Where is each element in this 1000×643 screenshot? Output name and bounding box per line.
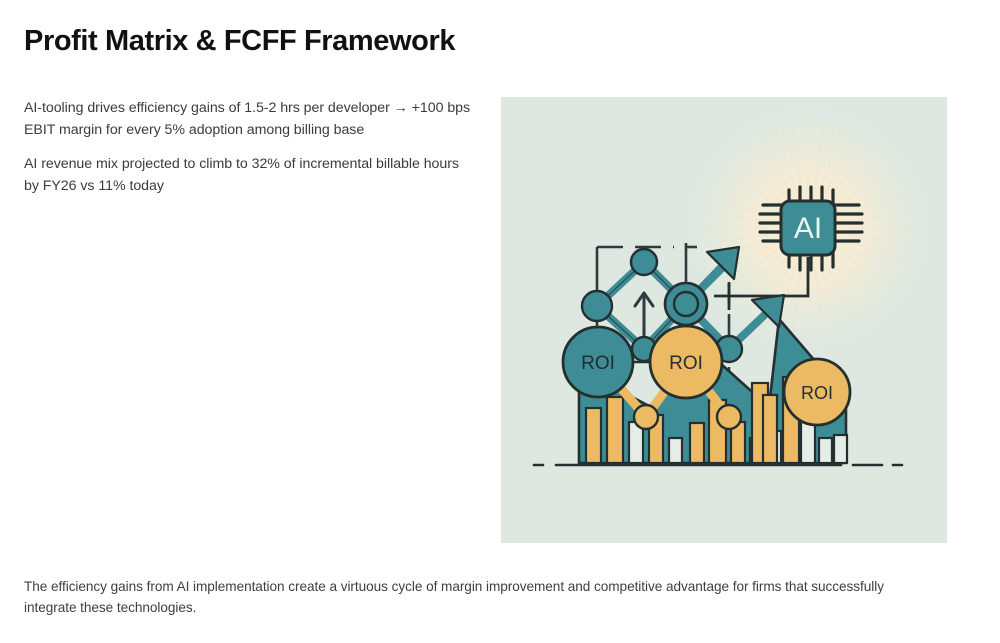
bar	[669, 438, 682, 463]
bullet-item-2: AI revenue mix projected to climb to 32%…	[24, 153, 476, 197]
bar	[586, 408, 601, 463]
teal-node	[631, 249, 657, 275]
illustration-panel: ROI ROI ROI	[501, 97, 947, 543]
bar	[834, 435, 847, 463]
ai-roi-growth-illustration: ROI ROI ROI	[501, 97, 947, 543]
roi-badge-2: ROI	[650, 326, 722, 398]
roi-badge-1-label: ROI	[581, 353, 615, 374]
bar	[819, 438, 832, 463]
roi-badge-1: ROI	[563, 327, 633, 397]
bullet-item-1: AI-tooling drives efficiency gains of 1.…	[24, 97, 476, 141]
teal-node	[582, 291, 612, 321]
roi-badge-3: ROI	[784, 359, 850, 425]
teal-hub-inner	[674, 292, 698, 316]
bullet-list: AI-tooling drives efficiency gains of 1.…	[24, 97, 476, 209]
footnote-text: The efficiency gains from AI implementat…	[24, 576, 904, 618]
slide-root: Profit Matrix & FCFF Framework AI-toolin…	[0, 0, 1000, 643]
page-title: Profit Matrix & FCFF Framework	[24, 24, 455, 59]
roi-badge-2-label: ROI	[669, 353, 703, 374]
amber-node	[634, 405, 658, 429]
bar	[763, 395, 777, 463]
bar	[690, 423, 704, 463]
chip-label: AI	[794, 212, 822, 245]
amber-node	[717, 405, 741, 429]
bar	[607, 397, 623, 463]
roi-badge-3-label: ROI	[801, 383, 833, 403]
